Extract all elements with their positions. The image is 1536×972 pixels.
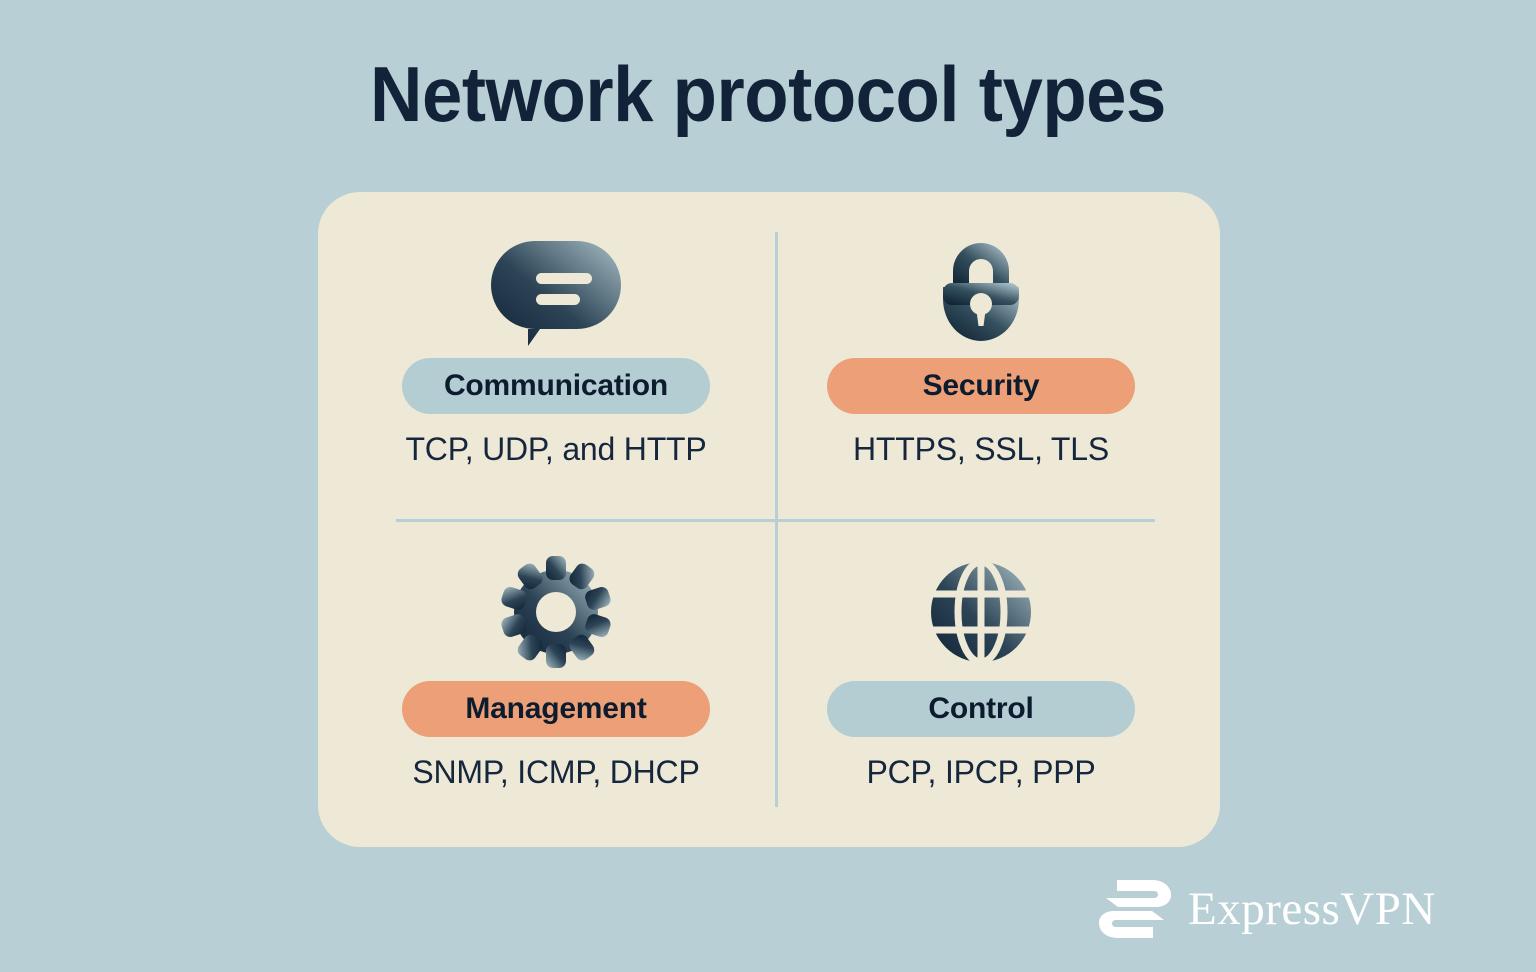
protocols-management: SNMP, ICMP, DHCP — [412, 754, 699, 791]
page-title: Network protocol types — [54, 54, 1482, 136]
globe-icon — [928, 553, 1034, 671]
pill-management[interactable]: Management — [402, 681, 710, 737]
protocols-control: PCP, IPCP, PPP — [866, 754, 1095, 791]
expressvpn-logo[interactable]: ExpressVPN — [1098, 880, 1436, 938]
pill-communication[interactable]: Communication — [402, 358, 710, 414]
quadrant-security: Security HTTPS, SSL, TLS — [791, 230, 1171, 468]
gear-icon — [498, 553, 614, 671]
pill-security[interactable]: Security — [827, 358, 1135, 414]
logo-wordmark: ExpressVPN — [1188, 886, 1436, 933]
protocols-communication: TCP, UDP, and HTTP — [405, 431, 706, 468]
horizontal-divider — [396, 519, 1155, 522]
pill-label: Security — [923, 369, 1040, 403]
speech-bubble-icon — [488, 230, 624, 348]
lock-icon — [923, 230, 1039, 348]
pill-label: Communication — [444, 369, 668, 403]
pill-label: Control — [928, 692, 1033, 726]
expressvpn-e-mark-icon — [1098, 880, 1172, 938]
pill-label: Management — [465, 692, 646, 726]
quadrant-control: Control PCP, IPCP, PPP — [791, 553, 1171, 791]
pill-control[interactable]: Control — [827, 681, 1135, 737]
protocols-security: HTTPS, SSL, TLS — [853, 431, 1109, 468]
quadrant-management: Management SNMP, ICMP, DHCP — [366, 553, 746, 791]
quadrant-communication: Communication TCP, UDP, and HTTP — [366, 230, 746, 468]
